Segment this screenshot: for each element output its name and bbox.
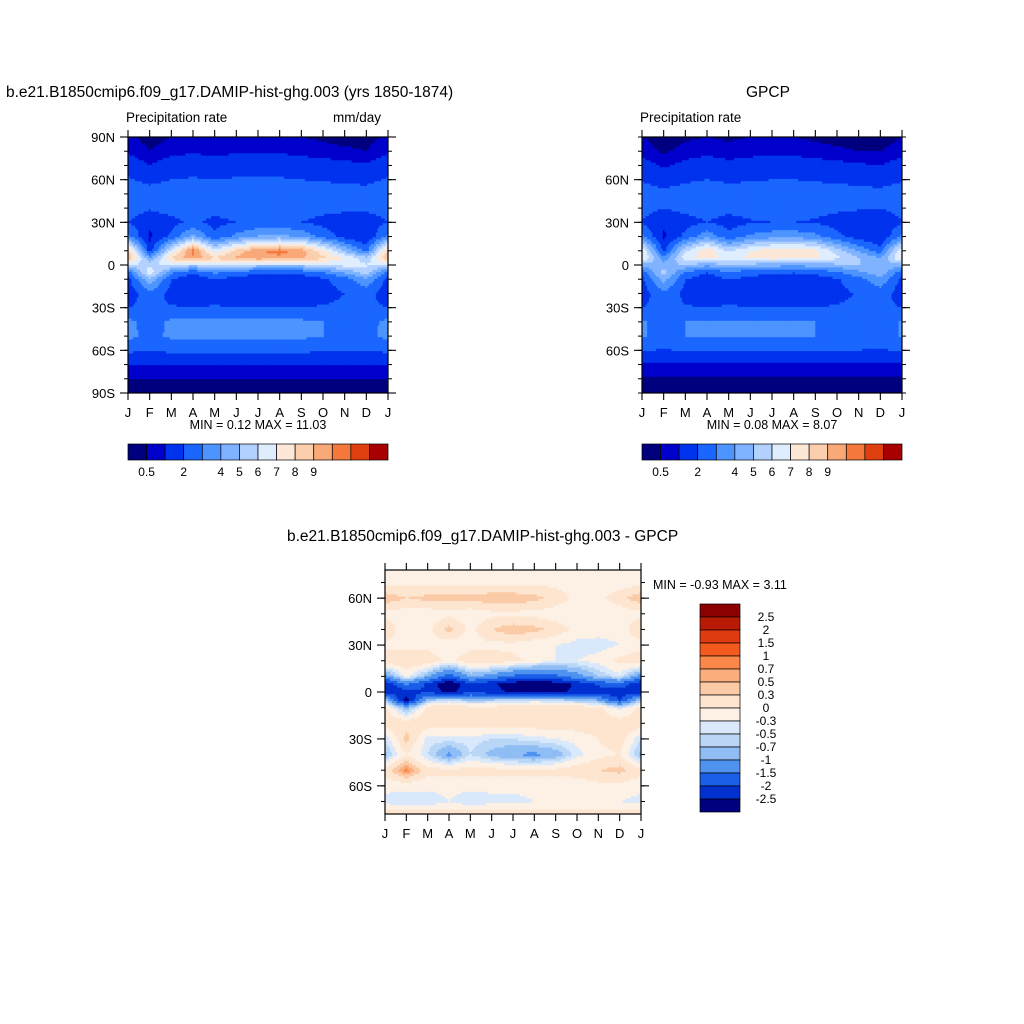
colorbar-swatch — [295, 444, 314, 460]
colorbar-swatch — [700, 786, 740, 799]
colorbar-tick-label: -0.5 — [756, 727, 777, 741]
colorbar-swatch — [700, 695, 740, 708]
colorbar-swatch — [314, 444, 333, 460]
colorbar-tick-label: -2 — [761, 779, 772, 793]
colorbar-tick-label: 2 — [694, 465, 701, 479]
colorbar-swatch — [369, 444, 388, 460]
colorbar-tick-label: 0 — [763, 701, 770, 715]
colorbar-swatch — [698, 444, 717, 460]
colorbar-swatch — [809, 444, 828, 460]
colorbar-tick-label: -1.5 — [756, 766, 777, 780]
colorbar-tick-label: 8 — [806, 465, 813, 479]
colorbar-swatch — [700, 760, 740, 773]
colorbar-tick-label: 6 — [769, 465, 776, 479]
colorbar-swatch — [700, 799, 740, 812]
colorbar-swatch — [753, 444, 772, 460]
colorbar-swatch — [332, 444, 351, 460]
colorbar-swatch — [184, 444, 203, 460]
colorbar-swatch — [865, 444, 884, 460]
colorbar-tick-label: 4 — [218, 465, 225, 479]
colorbar-tick-label: 1.5 — [758, 636, 775, 650]
colorbar-swatch — [239, 444, 258, 460]
colorbar-tick-label: 0.5 — [138, 465, 155, 479]
colorbar-swatch — [258, 444, 277, 460]
colorbar-tick-label: 6 — [255, 465, 262, 479]
colorbar-swatch — [700, 604, 740, 617]
colorbar-swatch — [221, 444, 240, 460]
colorbar-tick-label: 0.3 — [758, 688, 775, 702]
colorbar-swatch — [846, 444, 865, 460]
colorbar-swatch — [679, 444, 698, 460]
colorbar-tick-label: 2 — [180, 465, 187, 479]
colorbar-swatch — [700, 734, 740, 747]
colorbar-tick-label: 2 — [763, 623, 770, 637]
colorbar-tick-label: 9 — [310, 465, 317, 479]
colorbar-tick-label: 7 — [787, 465, 794, 479]
colorbar-swatch — [700, 643, 740, 656]
colorbar-tick-label: 0.7 — [758, 662, 775, 676]
colorbar-swatch — [791, 444, 810, 460]
colorbar-swatch — [128, 444, 147, 460]
colorbar-swatch — [700, 773, 740, 786]
colorbar-swatch — [700, 656, 740, 669]
colorbar-swatch — [716, 444, 735, 460]
colorbar-tick-label: 5 — [750, 465, 757, 479]
colorbar-tick-label: 7 — [273, 465, 280, 479]
colorbar-swatch — [700, 617, 740, 630]
colorbar-tick-label: 5 — [236, 465, 243, 479]
colorbar-tick-label: -1 — [761, 753, 772, 767]
precip-colorbar[interactable] — [642, 444, 902, 460]
colorbar-swatch — [700, 747, 740, 760]
colorbar-swatch — [700, 721, 740, 734]
colorbar-tick-label: 1 — [763, 649, 770, 663]
colorbar-swatch — [277, 444, 296, 460]
colorbar-swatch — [661, 444, 680, 460]
colorbar-tick-label: 9 — [824, 465, 831, 479]
colorbar-swatch — [700, 669, 740, 682]
colorbar-tick-label: 0.5 — [758, 675, 775, 689]
colorbar-swatch — [735, 444, 754, 460]
colorbar-swatch — [351, 444, 370, 460]
colorbar-swatch — [202, 444, 221, 460]
colorbar-tick-label: -0.3 — [756, 714, 777, 728]
colorbar-swatch — [700, 630, 740, 643]
colorbar-swatch — [772, 444, 791, 460]
colorbar-swatch — [642, 444, 661, 460]
precip-colorbar[interactable] — [128, 444, 388, 460]
colorbar-tick-label: 2.5 — [758, 610, 775, 624]
colorbar-tick-label: -0.7 — [756, 740, 777, 754]
colorbar-swatch — [828, 444, 847, 460]
colorbar-tick-label: 8 — [292, 465, 299, 479]
diff-colorbar[interactable] — [700, 604, 740, 812]
colorbar-swatch — [147, 444, 166, 460]
colorbar-swatch — [883, 444, 902, 460]
colorbar-tick-label: 4 — [732, 465, 739, 479]
colorbar-swatch — [700, 682, 740, 695]
colorbar-tick-label: 0.5 — [652, 465, 669, 479]
colorbar-swatch — [700, 708, 740, 721]
colorbar-tick-label: -2.5 — [756, 792, 777, 806]
colorbar-swatch — [165, 444, 184, 460]
